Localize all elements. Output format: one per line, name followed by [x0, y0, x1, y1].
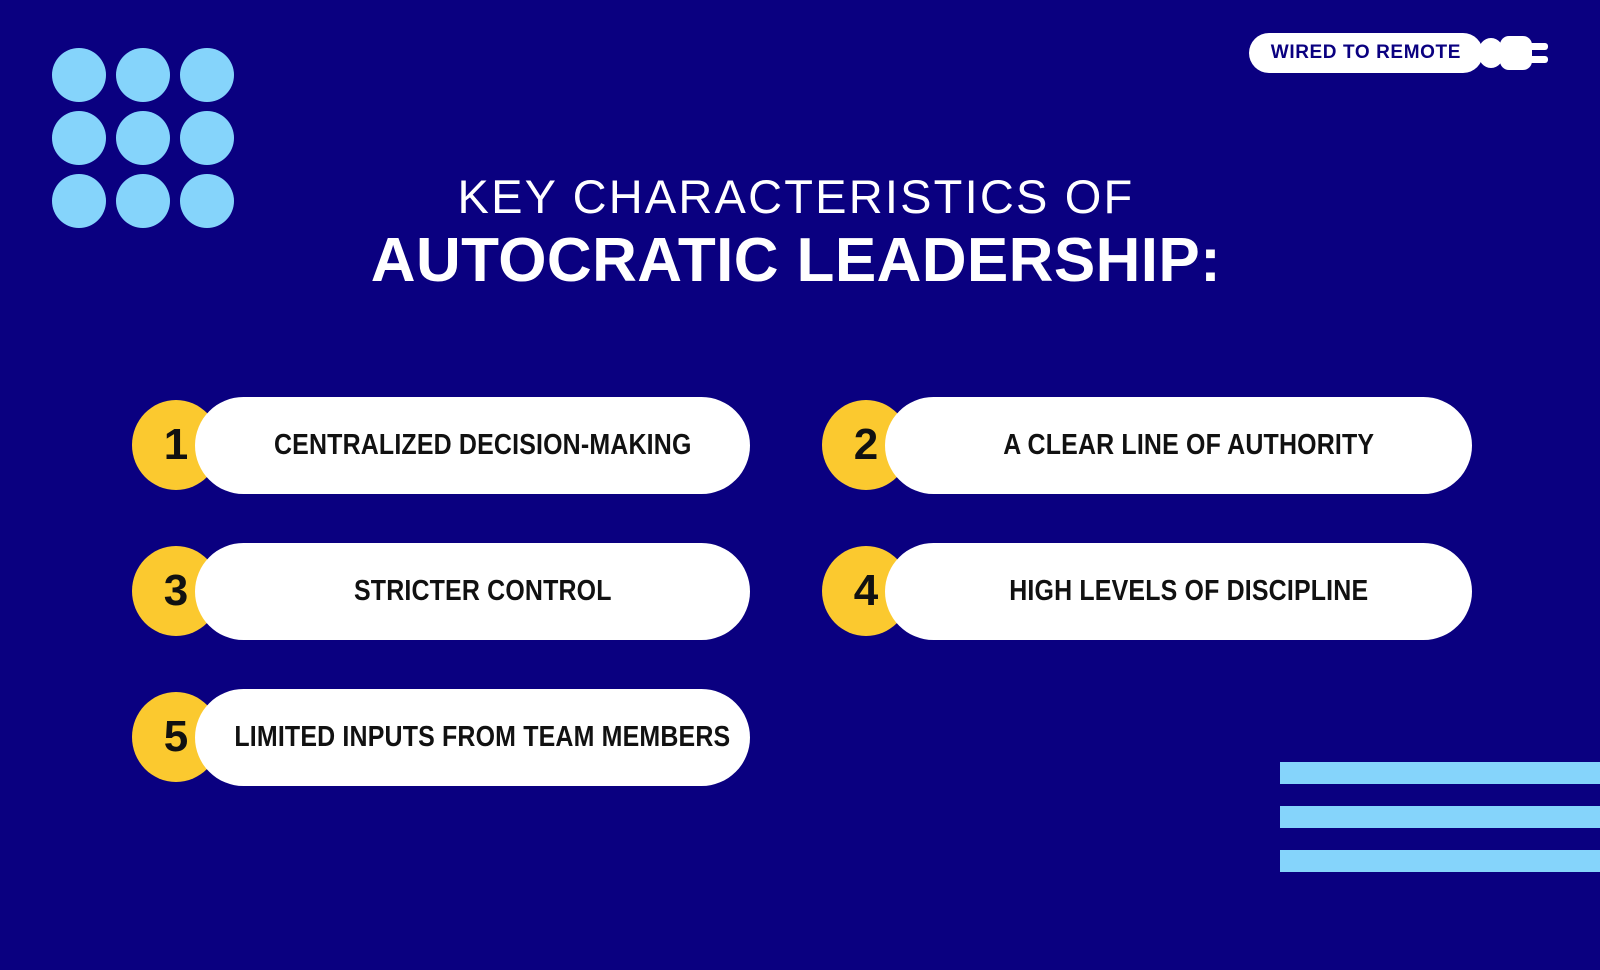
grid-dot-icon	[116, 48, 170, 102]
plug-prong-icon	[1528, 43, 1548, 50]
infographic-canvas: WIRED TO REMOTE KEY CHARACTERISTICS OF A…	[0, 0, 1600, 970]
stripe-bar	[1280, 806, 1600, 828]
characteristics-list: 1 CENTRALIZED DECISION-MAKING 2 A CLEAR …	[132, 397, 1472, 786]
item-label: STRICTER CONTROL	[354, 575, 612, 608]
title-line-primary: KEY CHARACTERISTICS OF	[0, 172, 1592, 223]
item-label: A CLEAR LINE OF AUTHORITY	[1003, 429, 1374, 462]
stripes-decoration	[1280, 762, 1600, 872]
item-number: 1	[164, 423, 188, 467]
brand-name: WIRED TO REMOTE	[1271, 42, 1461, 64]
item-card[interactable]: STRICTER CONTROL	[195, 543, 750, 640]
grid-dot-icon	[52, 111, 106, 165]
list-item[interactable]: 1 CENTRALIZED DECISION-MAKING	[132, 397, 750, 494]
stripe-bar	[1280, 850, 1600, 872]
item-number: 3	[164, 569, 188, 613]
grid-dot-icon	[116, 111, 170, 165]
list-item[interactable]: 5 LIMITED INPUTS FROM TEAM MEMBERS	[132, 689, 750, 786]
item-number: 4	[854, 569, 878, 613]
grid-dot-icon	[180, 48, 234, 102]
list-item[interactable]: 4 HIGH LEVELS OF DISCIPLINE	[822, 543, 1472, 640]
stripe-bar	[1280, 762, 1600, 784]
list-item[interactable]: 2 A CLEAR LINE OF AUTHORITY	[822, 397, 1472, 494]
item-card[interactable]: A CLEAR LINE OF AUTHORITY	[885, 397, 1472, 494]
item-number: 2	[854, 423, 878, 467]
title-line-emphasis: AUTOCRATIC LEADERSHIP:	[0, 227, 1592, 295]
item-label: LIMITED INPUTS FROM TEAM MEMBERS	[235, 721, 731, 754]
item-card[interactable]: LIMITED INPUTS FROM TEAM MEMBERS	[195, 689, 750, 786]
item-card[interactable]: HIGH LEVELS OF DISCIPLINE	[885, 543, 1472, 640]
item-number: 5	[164, 715, 188, 759]
brand-logo[interactable]: WIRED TO REMOTE	[1249, 33, 1532, 73]
item-card[interactable]: CENTRALIZED DECISION-MAKING	[195, 397, 750, 494]
plug-prong-icon	[1528, 56, 1548, 63]
item-label: CENTRALIZED DECISION-MAKING	[274, 429, 692, 462]
brand-logo-pill: WIRED TO REMOTE	[1249, 33, 1483, 73]
item-label: HIGH LEVELS OF DISCIPLINE	[1009, 575, 1368, 608]
power-plug-icon	[1500, 36, 1532, 70]
grid-dot-icon	[52, 48, 106, 102]
list-item[interactable]: 3 STRICTER CONTROL	[132, 543, 750, 640]
grid-dot-icon	[180, 111, 234, 165]
page-title: KEY CHARACTERISTICS OF AUTOCRATIC LEADER…	[0, 172, 1600, 295]
